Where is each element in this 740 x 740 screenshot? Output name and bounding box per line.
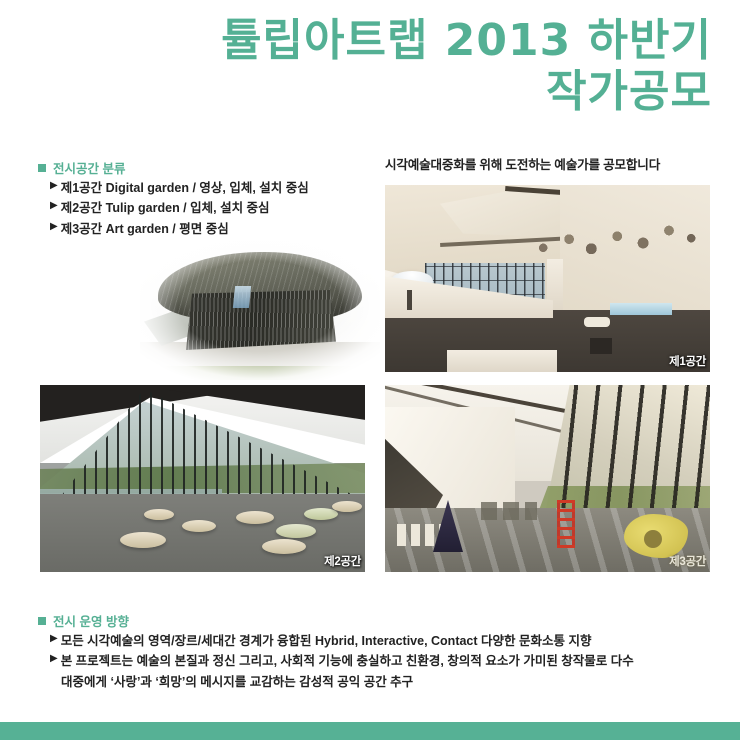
- title-line-2: 작가공모: [0, 69, 712, 116]
- exhibition-space-list: ▶ 제1공간 Digital garden / 영상, 입체, 설치 중심 ▶ …: [50, 178, 309, 239]
- triangle-bullet-icon: ▶: [50, 651, 58, 667]
- wall-artworks: [481, 502, 537, 520]
- section-heading-exhibition-spaces: 전시공간 분류: [38, 158, 125, 177]
- floor: [40, 494, 365, 572]
- operation-direction-list: ▶ 모든 시각예술의 영역/장르/세대간 경계가 융합된 Hybrid, Int…: [50, 631, 634, 692]
- yellow-sculpture: [624, 514, 688, 558]
- photo-gallery-space-2: 제2공간: [40, 385, 365, 572]
- section-heading-operation-direction: 전시 운영 방향: [38, 611, 129, 630]
- pebble-cushion: [182, 520, 216, 532]
- red-ladder: [557, 500, 575, 548]
- window-glare: [233, 286, 251, 308]
- list-item-label: 대중에게 ‘사랑’과 ‘희망’의 메시지를 교감하는 감성적 공익 공간 추구: [61, 672, 413, 692]
- list-item-continuation: 대중에게 ‘사랑’과 ‘희망’의 메시지를 교감하는 감성적 공익 공간 추구: [50, 672, 634, 692]
- number-marker: [407, 290, 412, 310]
- display-pod: [584, 317, 610, 327]
- section-heading-label: 전시공간 분류: [53, 158, 125, 177]
- list-item-label: 제2공간 Tulip garden / 입체, 설치 중심: [61, 198, 270, 218]
- black-pedestal: [590, 338, 612, 354]
- facade-fins: [186, 290, 336, 350]
- white-plinth: [447, 350, 557, 372]
- list-item-label: 제1공간 Digital garden / 영상, 입체, 설치 중심: [61, 178, 309, 198]
- photo-caption: 제2공간: [324, 553, 361, 569]
- list-item: ▶ 본 프로젝트는 예술의 본질과 정신 그리고, 사회적 기능에 충실하고 친…: [50, 651, 634, 671]
- poster-title: 튤립아트랩 2013 하반기 작가공모: [0, 18, 712, 115]
- title-line-1: 튤립아트랩 2013 하반기: [0, 18, 712, 65]
- triangle-bullet-icon: ▶: [50, 198, 58, 214]
- list-item: ▶ 제3공간 Art garden / 평면 중심: [50, 219, 309, 239]
- photo-caption: 제1공간: [669, 353, 706, 369]
- pebble-cushion: [332, 501, 362, 512]
- list-item-label: 모든 시각예술의 영역/장르/세대간 경계가 융합된 Hybrid, Inter…: [61, 631, 592, 651]
- triangle-bullet-icon: ▶: [50, 219, 58, 235]
- list-item-label: 제3공간 Art garden / 평면 중심: [61, 219, 229, 239]
- sub-caption: 시각예술대중화를 위해 도전하는 예술가를 공모합니다: [385, 154, 715, 173]
- square-bullet-icon: [38, 617, 46, 625]
- display-screen: [610, 303, 672, 315]
- photo-caption: 제3공간: [669, 553, 706, 569]
- poster-canvas: 튤립아트랩 2013 하반기 작가공모 시각예술대중화를 위해 도전하는 예술가…: [0, 0, 740, 740]
- pebble-cushion: [236, 511, 274, 524]
- list-item-label: 본 프로젝트는 예술의 본질과 정신 그리고, 사회적 기능에 충실하고 친환경…: [61, 651, 634, 671]
- square-bullet-icon: [38, 164, 46, 172]
- photo-gallery-space-3: 제3공간: [385, 385, 710, 572]
- pebble-cushion: [120, 532, 166, 548]
- pebble-cushion: [276, 524, 316, 538]
- pebble-cushion: [144, 509, 174, 520]
- list-item: ▶ 제1공간 Digital garden / 영상, 입체, 설치 중심: [50, 178, 309, 198]
- triangle-bullet-icon: ▶: [50, 178, 58, 194]
- triangle-bullet-icon: ▶: [50, 631, 58, 647]
- pebble-cushion: [262, 539, 306, 554]
- photo-building-exterior: [140, 238, 380, 380]
- photo-gallery-space-1: 제1공간: [385, 185, 710, 372]
- list-item: ▶ 제2공간 Tulip garden / 입체, 설치 중심: [50, 198, 309, 218]
- grass-strip: [140, 366, 380, 380]
- section-heading-label: 전시 운영 방향: [53, 611, 129, 630]
- building-facade: [186, 290, 336, 350]
- list-item: ▶ 모든 시각예술의 영역/장르/세대간 경계가 융합된 Hybrid, Int…: [50, 631, 634, 651]
- pebble-cushion: [304, 508, 338, 520]
- bottom-accent-bar: [0, 722, 740, 740]
